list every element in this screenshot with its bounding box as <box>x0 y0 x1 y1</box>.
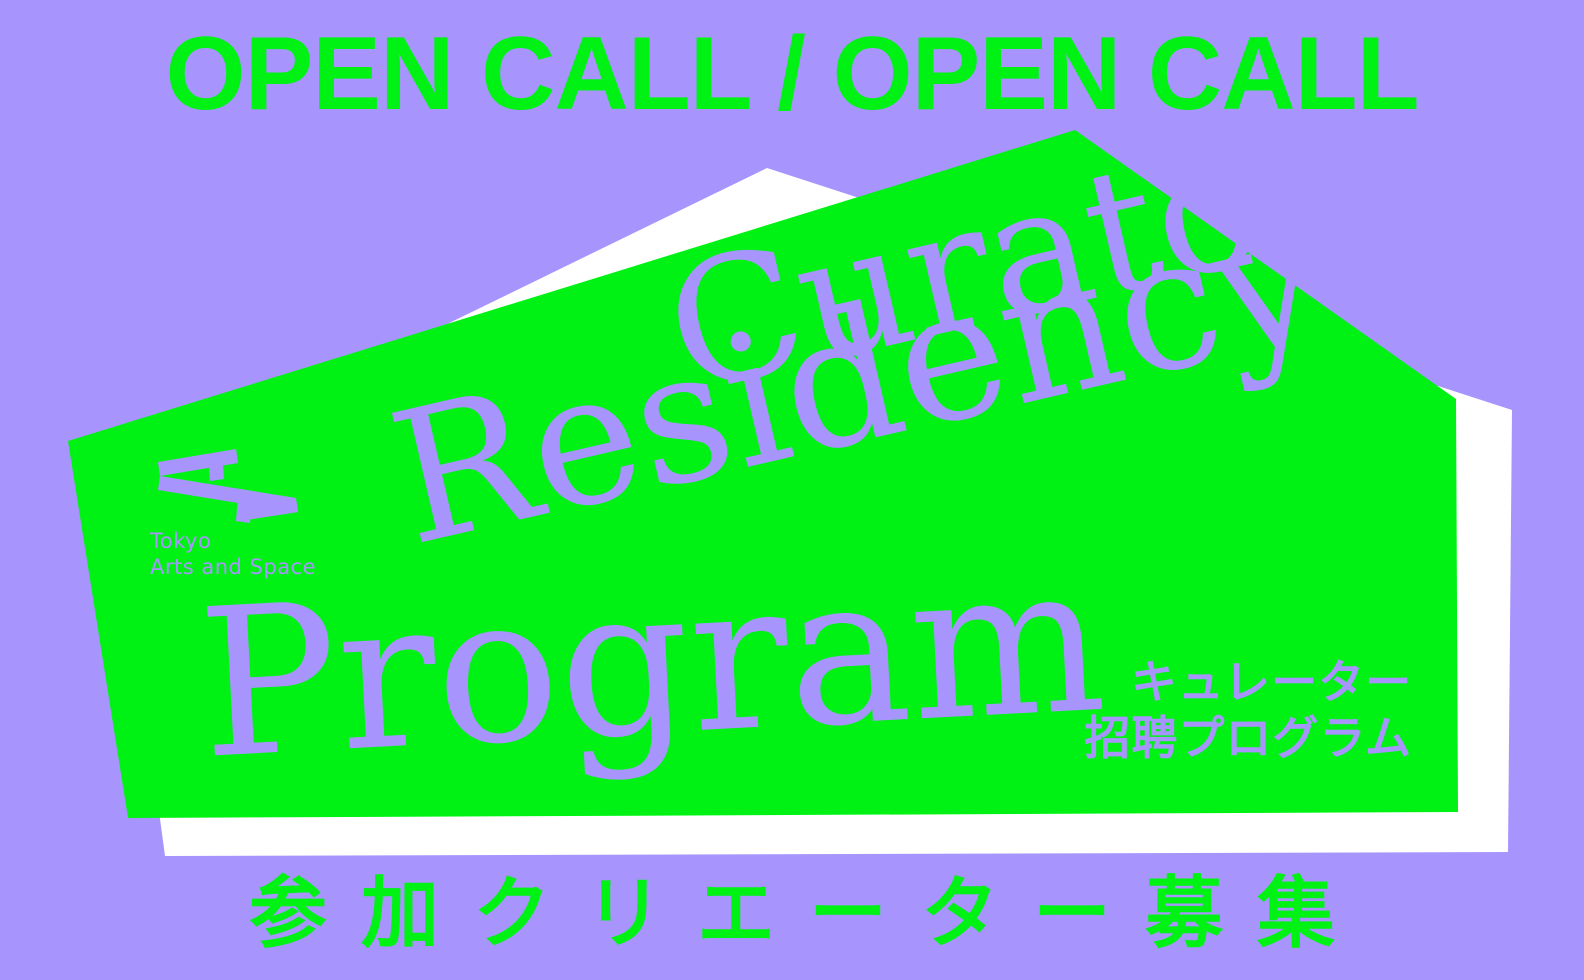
tokas-logo[interactable]: Tokyo Arts and Space <box>150 446 330 580</box>
japanese-subtitle-line1: キュレーター <box>1084 654 1412 710</box>
japanese-subtitle-line2: 招聘プログラム <box>1084 710 1412 766</box>
logo-line-tokyo: Tokyo <box>150 528 330 554</box>
footer-call-text: 参加クリエーター募集 <box>215 875 1369 953</box>
tokas-zigzag-icon <box>150 446 310 526</box>
japanese-subtitle: キュレーター 招聘プログラム <box>1084 654 1412 766</box>
footer-band: 参加クリエーター募集 <box>0 848 1584 980</box>
title-line-program: Program <box>195 545 1109 781</box>
poster-canvas: OPEN CALL / OPEN CALL Tokyo Arts and Spa… <box>0 0 1584 980</box>
